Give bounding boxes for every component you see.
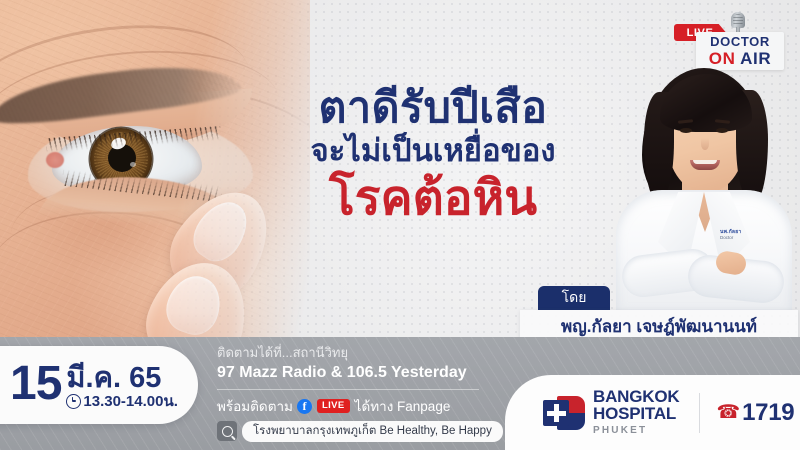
logo-mark-icon xyxy=(543,396,585,430)
facebook-page-name[interactable]: โรงพยาบาลกรุงเทพภูเก็ต Be Healthy, Be Ha… xyxy=(242,421,503,442)
fanpage-prefix: พร้อมติดตาม xyxy=(217,395,293,417)
by-label-tab: โดย xyxy=(538,286,610,310)
radio-stations: 97 Mazz Radio & 106.5 Yesterday xyxy=(217,362,487,384)
hospital-logo-panel: BANGKOK HOSPITAL PHUKET ☎ 1719 xyxy=(505,375,800,450)
doctor-portrait-photo: นพ.กัลยา Doctor xyxy=(612,62,796,308)
event-month-year: มี.ค. 65 xyxy=(66,364,178,393)
event-time: 13.30-14.00น. xyxy=(83,394,178,409)
facebook-icon[interactable]: f xyxy=(297,399,312,414)
headline-line-2: จะไม่เป็นเหยื่อของ xyxy=(283,132,583,171)
eye-right xyxy=(716,128,728,133)
logo-wordmark: BANGKOK HOSPITAL PHUKET xyxy=(593,389,679,436)
eye-left xyxy=(680,128,692,133)
bangkok-hospital-logo: BANGKOK HOSPITAL PHUKET xyxy=(543,389,679,436)
event-time-row: 13.30-14.00น. xyxy=(66,394,178,409)
follow-prefix: ติดตามได้ที่...สถานีวิทยุ xyxy=(217,344,487,362)
live-badge: LIVE xyxy=(317,399,350,413)
page-search-row[interactable]: โรงพยาบาลกรุงเทพภูเก็ต Be Healthy, Be Ha… xyxy=(217,421,487,442)
doctor-label: DOCTOR xyxy=(710,35,770,48)
microphone-icon xyxy=(730,12,746,34)
brand-line-2: HOSPITAL xyxy=(593,406,679,423)
clock-icon xyxy=(66,394,81,409)
headline-block: ตาดีรับปีเสือ จะไม่เป็นเหยื่อของ โรคต้อห… xyxy=(283,86,583,226)
phone-number[interactable]: 1719 xyxy=(742,399,794,427)
phone-icon: ☎ xyxy=(716,403,740,422)
eye-highlight-small xyxy=(130,162,136,167)
brand-line-1: BANGKOK xyxy=(593,389,679,406)
date-time-pill: 15 มี.ค. 65 13.30-14.00น. xyxy=(0,346,198,424)
nose xyxy=(701,138,709,150)
fanpage-row: พร้อมติดตาม f LIVE ได้ทาง Fanpage xyxy=(217,395,487,417)
speaker-name: พญ.กัลยา เจษฎ์พัฒนานนท์ xyxy=(561,317,757,337)
vertical-divider xyxy=(699,393,700,433)
eye-closeup-photo xyxy=(0,0,310,340)
microphone-head xyxy=(731,12,745,28)
microphone-grill xyxy=(733,14,743,24)
eye-caruncle xyxy=(46,152,64,168)
coat-embroidery: นพ.กัลยา Doctor xyxy=(720,230,754,246)
brand-line-3: PHUKET xyxy=(593,425,679,436)
logo-cross-horizontal xyxy=(547,411,566,416)
date-inner: 15 มี.ค. 65 13.30-14.00น. xyxy=(10,362,178,409)
event-day: 15 xyxy=(10,362,61,406)
phone-block[interactable]: ☎ 1719 xyxy=(716,399,794,427)
headline-line-1: ตาดีรับปีเสือ xyxy=(283,86,583,132)
teeth xyxy=(693,160,717,164)
search-icon[interactable] xyxy=(217,421,237,441)
headline-line-3: โรคต้อหิน xyxy=(283,172,583,226)
coat-badge-title: Doctor xyxy=(720,236,754,241)
promo-poster: ตาดีรับปีเสือ จะไม่เป็นเหยื่อของ โรคต้อห… xyxy=(0,0,800,450)
divider-line xyxy=(217,389,479,390)
broadcast-info-block: ติดตามได้ที่...สถานีวิทยุ 97 Mazz Radio … xyxy=(217,344,487,442)
fanpage-suffix: ได้ทาง Fanpage xyxy=(355,395,451,417)
date-right-column: มี.ค. 65 13.30-14.00น. xyxy=(66,362,178,409)
